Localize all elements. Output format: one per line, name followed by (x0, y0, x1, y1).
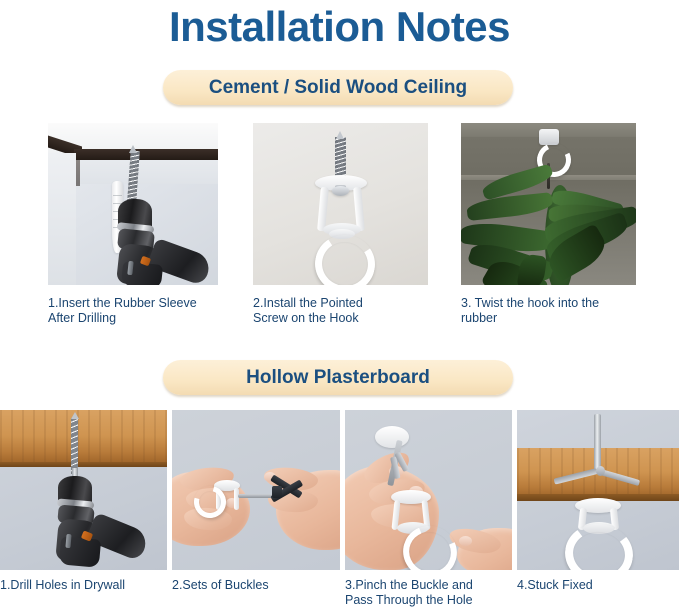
step-image-pinch-the-buckle (345, 410, 512, 570)
drill-bit (71, 418, 78, 474)
step-caption-stuck-fixed: 4.Stuck Fixed (517, 578, 679, 593)
scene-drill-into-ceiling (0, 410, 167, 570)
hook-curve (561, 520, 637, 570)
scene-hook-with-screw (253, 123, 428, 285)
hook-curve (310, 229, 381, 285)
scene-pinching-buckle (345, 410, 512, 570)
step-image-stuck-fixed (517, 410, 679, 570)
pointed-screw (335, 137, 346, 179)
installation-notes-page: { "title": "Installation Notes", "colors… (0, 0, 679, 613)
step-image-twist-hook-into-rubber (461, 123, 636, 285)
scene-drill-rubber-sleeve (48, 123, 218, 285)
toggle-shaft (594, 414, 601, 470)
step-caption-drill-holes-in-drywall: 1.Drill Holes in Drywall (0, 578, 170, 593)
step-image-drill-holes-in-drywall (0, 410, 167, 570)
step-caption-sets-of-buckles: 2.Sets of Buckles (172, 578, 340, 593)
scene-hands-with-buckles (172, 410, 340, 570)
section-heading-hollow-plasterboard: Hollow Plasterboard (163, 360, 513, 395)
step-image-sets-of-buckles (172, 410, 340, 570)
step-caption-insert-rubber-sleeve: 1.Insert the Rubber Sleeve After Drillin… (48, 296, 223, 326)
page-title: Installation Notes (0, 2, 679, 52)
step-caption-install-pointed-screw: 2.Install the Pointed Screw on the Hook (253, 296, 428, 326)
section-heading-cement-solid-wood-ceiling: Cement / Solid Wood Ceiling (163, 70, 513, 105)
section-heading-label: Cement / Solid Wood Ceiling (209, 77, 467, 99)
step-image-install-pointed-screw (253, 123, 428, 285)
step-caption-twist-hook-into-rubber: 3. Twist the hook into the rubber (461, 296, 641, 326)
step-caption-pinch-the-buckle: 3.Pinch the Buckle and Pass Through the … (345, 578, 517, 608)
scene-hanging-fern (461, 123, 636, 285)
toggle-disc (375, 426, 409, 448)
step-image-insert-rubber-sleeve (48, 123, 218, 285)
scene-toggle-fixed-in-board (517, 410, 679, 570)
section-heading-label: Hollow Plasterboard (246, 367, 430, 389)
